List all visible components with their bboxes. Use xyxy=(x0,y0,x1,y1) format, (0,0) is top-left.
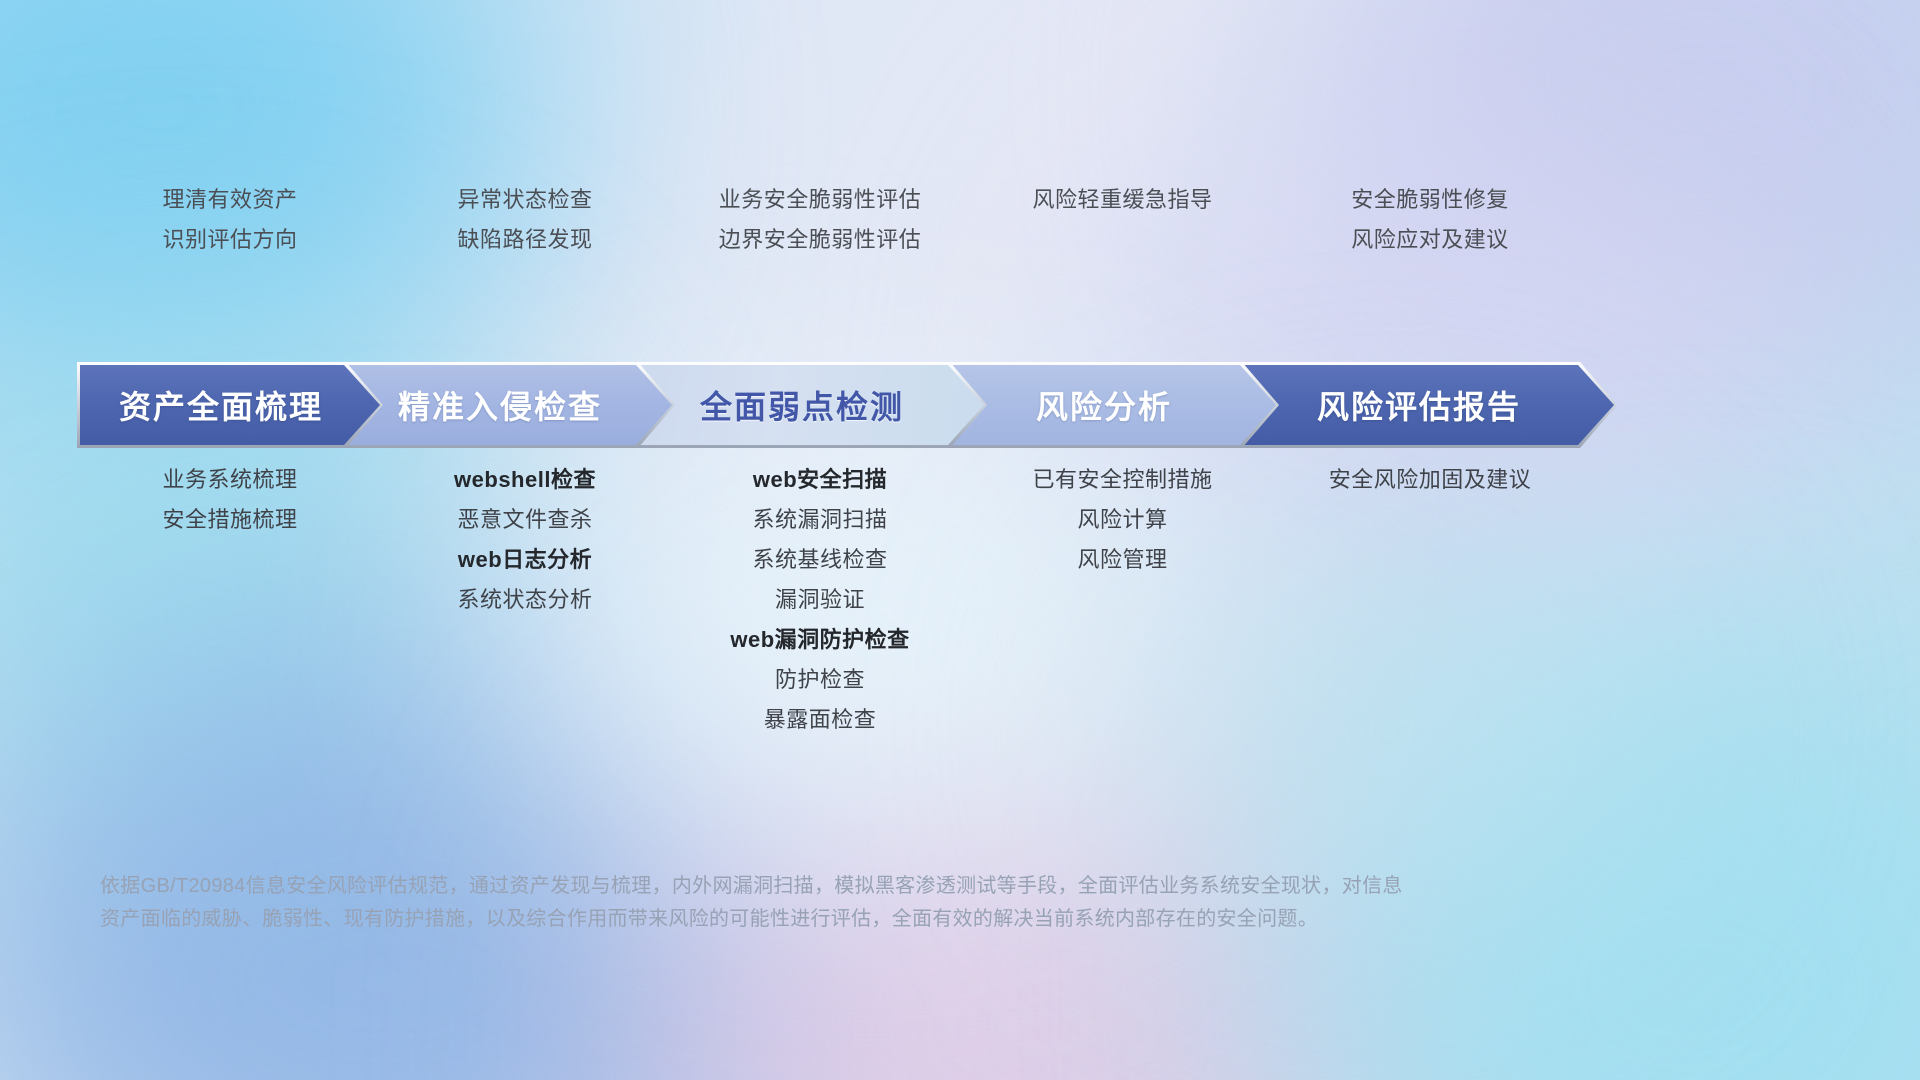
input-item: 边界安全脆弱性评估 xyxy=(670,220,970,260)
input-item: 风险轻重缓急指导 xyxy=(970,180,1275,220)
step-outputs-4: 安全风险加固及建议 xyxy=(1275,460,1585,500)
output-item: 漏洞验证 xyxy=(670,580,970,620)
step-inputs-4: 安全脆弱性修复 风险应对及建议 xyxy=(1275,180,1585,260)
chevron-step-3[interactable]: 全面弱点检测 xyxy=(638,365,984,445)
step-outputs-2: web安全扫描 系统漏洞扫描 系统基线检查 漏洞验证 web漏洞防护检查 防护检… xyxy=(670,460,970,740)
output-item: 风险计算 xyxy=(970,500,1275,540)
step-outputs-0: 业务系统梳理 安全措施梳理 xyxy=(80,460,380,540)
input-item: 异常状态检查 xyxy=(380,180,670,220)
input-item: 安全脆弱性修复 xyxy=(1275,180,1585,220)
chevron-step-1-label: 资产全面梳理 xyxy=(80,382,380,428)
output-item: 安全措施梳理 xyxy=(80,500,380,540)
chevron-step-4[interactable]: 风险分析 xyxy=(950,365,1276,445)
step-inputs-3: 风险轻重缓急指导 xyxy=(970,180,1275,220)
input-item: 理清有效资产 xyxy=(80,180,380,220)
step-inputs-row: 理清有效资产 识别评估方向 异常状态检查 缺陷路径发现 业务安全脆弱性评估 边界… xyxy=(80,180,1840,260)
input-item: 识别评估方向 xyxy=(80,220,380,260)
footer-description: 依据GB/T20984信息安全风险评估规范，通过资产发现与梳理，内外网漏洞扫描，… xyxy=(100,870,1620,936)
process-chevron-banner: 资产全面梳理 精准入侵检查 全面弱点检测 风险分析 风险评估报告 xyxy=(80,365,1840,445)
step-inputs-1: 异常状态检查 缺陷路径发现 xyxy=(380,180,670,260)
output-item: web安全扫描 xyxy=(670,460,970,500)
output-item: 风险管理 xyxy=(970,540,1275,580)
input-item: 风险应对及建议 xyxy=(1275,220,1585,260)
input-item: 业务安全脆弱性评估 xyxy=(670,180,970,220)
output-item: web漏洞防护检查 xyxy=(670,620,970,660)
output-item: 系统漏洞扫描 xyxy=(670,500,970,540)
slide-canvas: 理清有效资产 识别评估方向 异常状态检查 缺陷路径发现 业务安全脆弱性评估 边界… xyxy=(0,0,1920,1080)
chevron-step-2-label: 精准入侵检查 xyxy=(346,382,672,428)
chevron-step-1[interactable]: 资产全面梳理 xyxy=(80,365,380,445)
output-item: 系统基线检查 xyxy=(670,540,970,580)
output-item: 系统状态分析 xyxy=(380,580,670,620)
output-item: 已有安全控制措施 xyxy=(970,460,1275,500)
chevron-step-5-label: 风险评估报告 xyxy=(1242,382,1614,428)
step-outputs-row: 业务系统梳理 安全措施梳理 webshell检查 恶意文件查杀 web日志分析 … xyxy=(80,460,1840,740)
footer-line-1: 依据GB/T20984信息安全风险评估规范，通过资产发现与梳理，内外网漏洞扫描，… xyxy=(100,870,1620,903)
footer-line-2: 资产面临的威胁、脆弱性、现有防护措施，以及综合作用而带来风险的可能性进行评估，全… xyxy=(100,903,1620,936)
chevron-step-4-label: 风险分析 xyxy=(950,382,1276,428)
output-item: 业务系统梳理 xyxy=(80,460,380,500)
chevron-step-5[interactable]: 风险评估报告 xyxy=(1242,365,1614,445)
output-item: 防护检查 xyxy=(670,660,970,700)
step-inputs-2: 业务安全脆弱性评估 边界安全脆弱性评估 xyxy=(670,180,970,260)
chevron-step-2[interactable]: 精准入侵检查 xyxy=(346,365,672,445)
step-outputs-1: webshell检查 恶意文件查杀 web日志分析 系统状态分析 xyxy=(380,460,670,620)
step-inputs-0: 理清有效资产 识别评估方向 xyxy=(80,180,380,260)
input-item: 缺陷路径发现 xyxy=(380,220,670,260)
step-outputs-3: 已有安全控制措施 风险计算 风险管理 xyxy=(970,460,1275,580)
output-item: webshell检查 xyxy=(380,460,670,500)
chevron-step-3-label: 全面弱点检测 xyxy=(638,382,984,428)
output-item: 恶意文件查杀 xyxy=(380,500,670,540)
output-item: 暴露面检查 xyxy=(670,700,970,740)
output-item: 安全风险加固及建议 xyxy=(1275,460,1585,500)
output-item: web日志分析 xyxy=(380,540,670,580)
